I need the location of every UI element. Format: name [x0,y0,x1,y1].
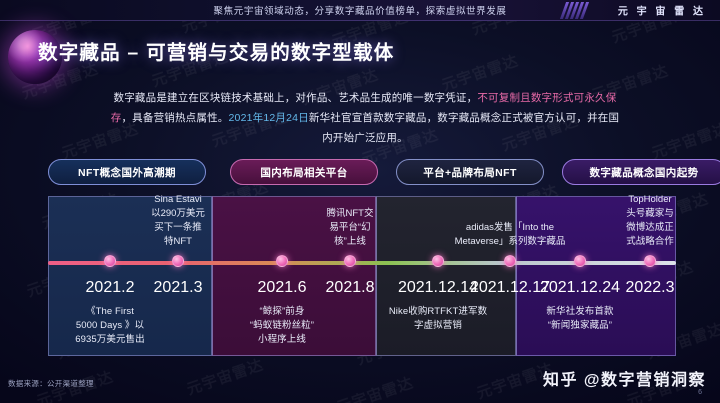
timeline-date-badge[interactable]: 2021.6 [258,279,307,296]
timeline-date-badge-wrap: 2021.6 [258,279,307,297]
timeline-node[interactable] [276,255,288,267]
timeline-date-badge-wrap: 2021.2 [86,279,135,297]
timeline-node[interactable] [504,255,516,267]
timeline-event-text: 新华社发布首款“新闻独家藏品” [525,305,635,333]
watermark-text: 元宇宙雷达 [184,354,266,400]
timeline-event-description: 《The First5000 Days 》以6935万美元售出 [55,300,165,347]
category-pill-row: NFT概念国外高潮期 国内布局相关平台 平台+品牌布局NFT 数字藏品概念国内起… [48,159,676,185]
timeline-date-badge[interactable]: 2021.3 [154,279,203,296]
timeline-date-badge-wrap: 2021.12.24 [540,279,620,297]
top-bar-tagline: 聚焦元宇宙领域动态，分享数字藏品价值榜单，探索虚拟世界发展 [214,3,507,17]
intro-highlight-2: 2021年12月24日 [228,112,308,124]
timeline-date-badge-wrap: 2021.3 [154,279,203,297]
timeline-date-badge[interactable]: 2021.8 [326,279,375,296]
slash-decoration-icon [563,2,586,19]
intro-segment-1: 数字藏品是建立在区块链技术基础上，对作品、艺术品生成的唯一数字凭证， [114,92,478,104]
timeline-node[interactable] [344,255,356,267]
top-bar: 聚焦元宇宙领域动态，分享数字藏品价值榜单，探索虚拟世界发展 元 宇 宙 雷 达 [0,0,720,21]
timeline-event-description: 新华社发布首款“新闻独家藏品” [525,300,635,333]
category-pill-nft-overseas-peak[interactable]: NFT概念国外高潮期 [48,159,206,185]
timeline-node[interactable] [644,255,656,267]
intro-segment-3: 新华社官宣首款数字藏品，数字藏品概念正式被官方认可，并在国内开始广泛应用。 [309,112,619,144]
timeline-event-description: Sina Estavi以290万美元买下一条推特NFT [119,193,237,249]
brand-logo-text: 元 宇 宙 雷 达 [618,3,706,18]
timeline-date-badge-wrap: 2021.8 [326,279,375,297]
page-title: 数字藏品 – 可营销与交易的数字型载体 [38,36,394,65]
timeline-date-badge-wrap: 2021.12.14 [398,279,478,297]
timeline-event-description: 腾讯NFT交易平台“幻核”上线 [291,207,409,249]
page-number: 6 [698,389,702,396]
timeline-event-description: adidas发售「Into theMetaverse」系列数字藏品 [451,221,569,249]
timeline-date-badge[interactable]: 2021.2 [86,279,135,296]
category-pill-domestic-platforms[interactable]: 国内布局相关平台 [230,159,378,185]
timeline-date-badge-wrap: 2021.12.17 [470,279,550,297]
timeline-event-description: “鲸探”前身“蚂蚁链粉丝粒”小程序上线 [227,300,337,347]
timeline-event-text: Nike收购RTFKT进军数字虚拟营销 [383,305,493,333]
title-row: 数字藏品 – 可营销与交易的数字型载体 [0,28,720,80]
attribution-label: 知乎 @数字营销洞察 [543,366,706,390]
timeline-date-badge[interactable]: 2022.3 [626,279,675,296]
timeline-node[interactable] [172,255,184,267]
data-source-note: 数据来源：公开渠道整理 [8,378,94,389]
timeline-date-badge-wrap: 2022.3 [626,279,675,297]
timeline-node[interactable] [432,255,444,267]
timeline-date-badge[interactable]: 2021.12.17 [470,279,550,296]
watermark-text: 元宇宙雷达 [334,372,416,403]
timeline-event-text: “鲸探”前身“蚂蚁链粉丝粒”小程序上线 [227,305,337,347]
timeline-event-description: TopHolder头号藏家与微博达成正式战略合作 [591,193,709,249]
intro-paragraph: 数字藏品是建立在区块链技术基础上，对作品、艺术品生成的唯一数字凭证，不可复制且数… [110,88,620,148]
watermark-text: 元宇宙雷达 [649,118,720,164]
intro-segment-2: ，具备营销热点属性。 [121,112,228,124]
timeline-event-text: 《The First5000 Days 》以6935万美元售出 [55,305,165,347]
timeline-date-badge[interactable]: 2021.12.14 [398,279,478,296]
timeline-node[interactable] [104,255,116,267]
category-pill-domestic-momentum[interactable]: 数字藏品概念国内起势 [562,159,720,185]
timeline-node[interactable] [574,255,586,267]
timeline-date-badge[interactable]: 2021.12.24 [540,279,620,296]
category-pill-platform-brand-nft[interactable]: 平台+品牌布局NFT [396,159,544,185]
timeline-event-description: Nike收购RTFKT进军数字虚拟营销 [383,300,493,333]
